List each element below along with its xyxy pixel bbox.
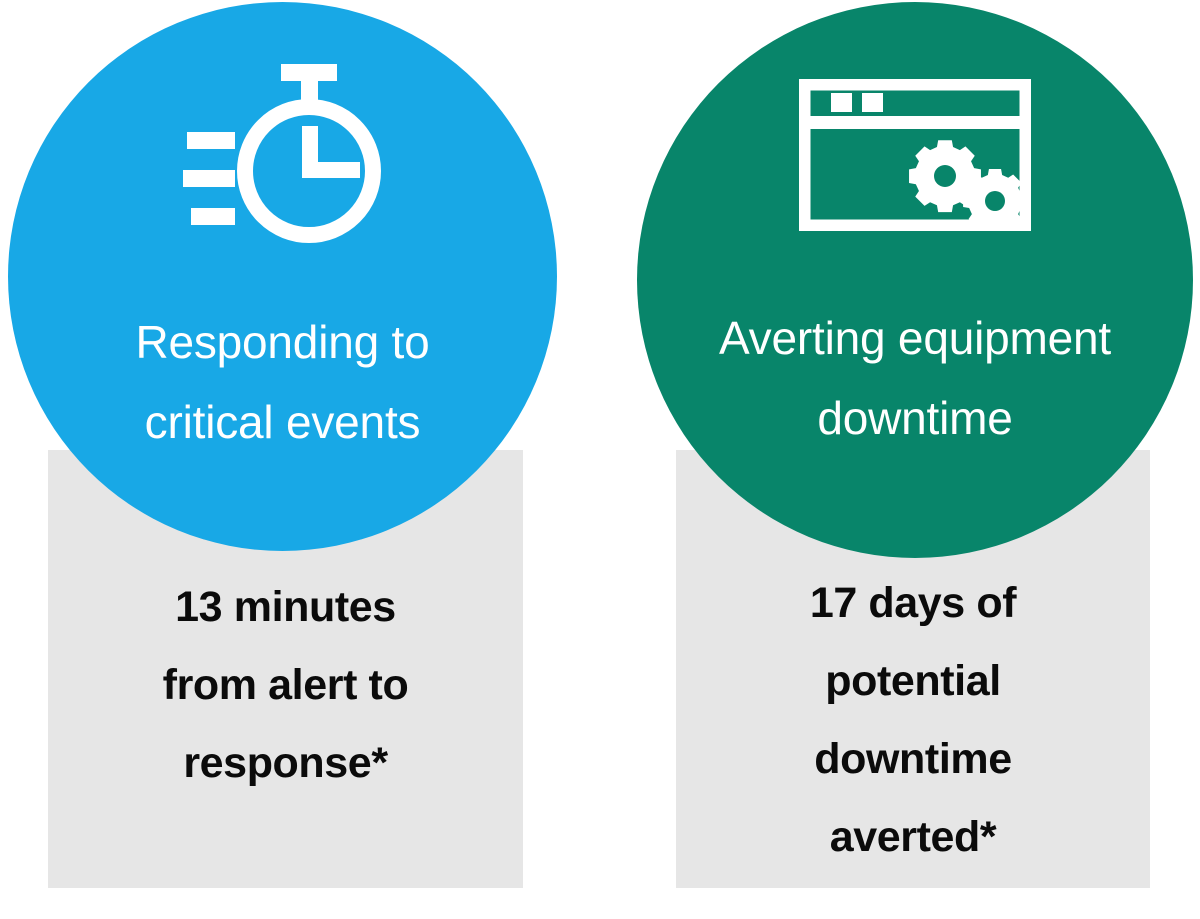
stopwatch-icon xyxy=(183,64,383,244)
card-circle-averting-equipment-downtime: Averting equipment downtime xyxy=(637,2,1193,558)
infographic-canvas: 13 minutes from alert to response* Respo… xyxy=(0,0,1200,919)
stat-value-responding-to-critical-events: 13 minutes from alert to response* xyxy=(48,568,523,802)
window-gears-icon xyxy=(799,70,1031,240)
card-circle-responding-to-critical-events: Responding to critical events xyxy=(8,2,557,551)
card-label-averting-equipment-downtime: Averting equipment downtime xyxy=(655,298,1175,458)
stat-value-averting-equipment-downtime: 17 days of potential downtime averted* xyxy=(676,564,1150,876)
card-label-responding-to-critical-events: Responding to critical events xyxy=(73,302,493,462)
